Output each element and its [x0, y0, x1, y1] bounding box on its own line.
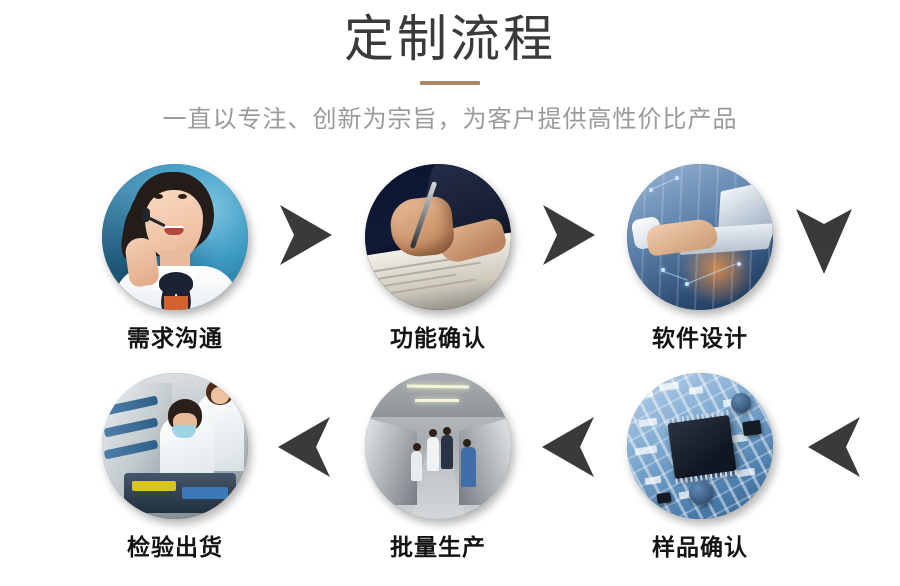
- title-underline-rule: [420, 81, 480, 85]
- page-subtitle: 一直以专注、创新为宗旨，为客户提供高性价比产品: [0, 103, 900, 137]
- step-1-image-customer-service: [102, 164, 248, 310]
- step-1-label: 需求沟通: [100, 324, 250, 352]
- process-step-5[interactable]: 批量生产: [363, 373, 513, 561]
- step-6-label: 样品确认: [625, 533, 775, 561]
- step-2-label: 功能确认: [363, 324, 513, 352]
- step-5-image-mass-production: [365, 373, 511, 519]
- step-2-image-contract-signing: [365, 164, 511, 310]
- step-4-label: 检验出货: [100, 533, 250, 561]
- arrow-left-icon: [806, 415, 862, 479]
- process-step-3[interactable]: 软件设计: [625, 164, 775, 352]
- process-step-1[interactable]: 需求沟通: [100, 164, 250, 352]
- step-4-image-inspection-shipping: [102, 373, 248, 519]
- step-5-label: 批量生产: [363, 533, 513, 561]
- step-3-label: 软件设计: [625, 324, 775, 352]
- arrow-left-icon: [540, 415, 596, 479]
- custom-process-infographic: 定制流程 一直以专注、创新为宗旨，为客户提供高性价比产品 需求沟通: [0, 0, 900, 586]
- process-step-2[interactable]: 功能确认: [363, 164, 513, 352]
- arrow-down-icon: [793, 206, 855, 276]
- arrow-right-icon: [541, 203, 597, 267]
- process-step-6[interactable]: 样品确认: [625, 373, 775, 561]
- page-title: 定制流程: [0, 8, 900, 70]
- step-3-image-laptop-software-design: [627, 164, 773, 310]
- process-step-4[interactable]: 检验出货: [100, 373, 250, 561]
- step-6-image-sample-pcb: [627, 373, 773, 519]
- arrow-left-icon: [276, 415, 332, 479]
- arrow-right-icon: [278, 203, 334, 267]
